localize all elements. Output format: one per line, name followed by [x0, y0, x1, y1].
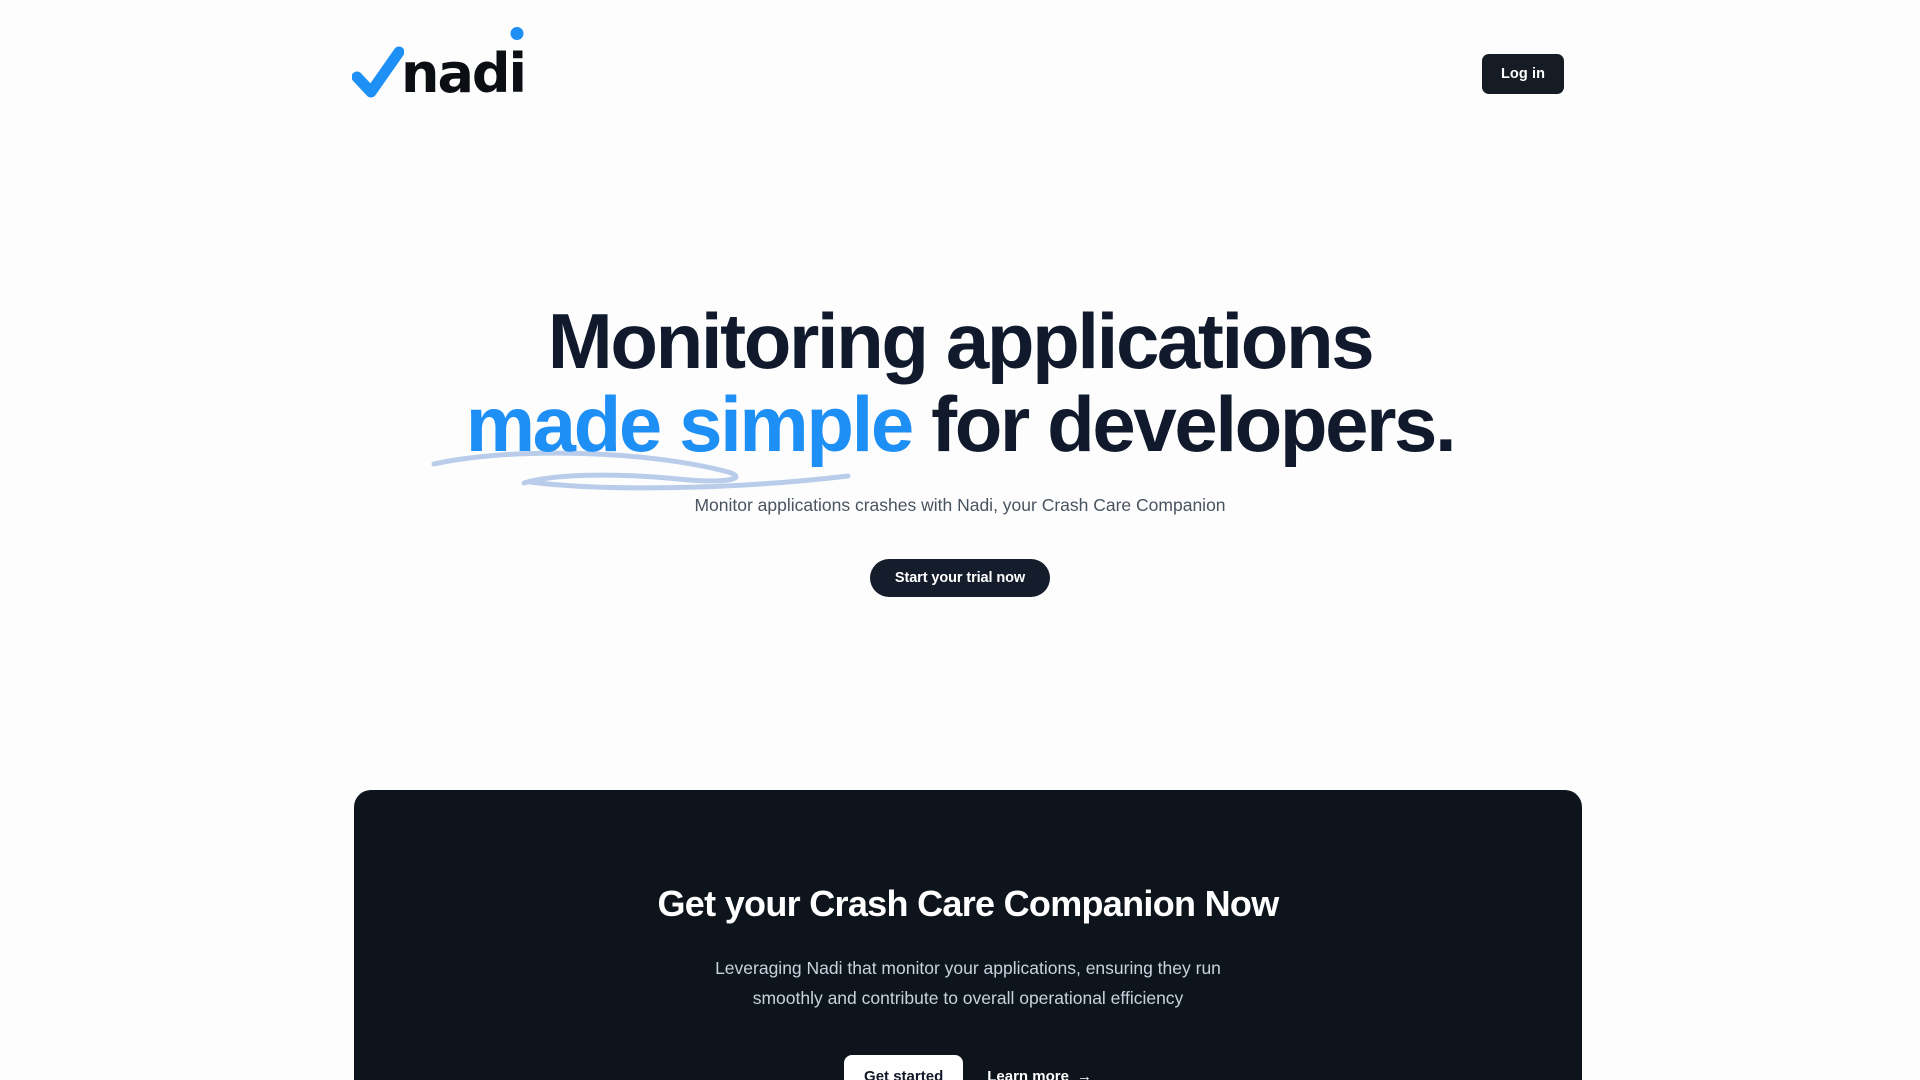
- promo-body: Leveraging Nadi that monitor your applic…: [354, 953, 1582, 1013]
- get-started-button[interactable]: Get started: [844, 1055, 963, 1080]
- hero-title-line-2-rest: for developers.: [912, 380, 1454, 468]
- hero-title-accent-wrap: made simple: [466, 383, 912, 466]
- hero-title-accent: made simple: [466, 380, 912, 468]
- learn-more-label: Learn more: [987, 1068, 1069, 1080]
- learn-more-link[interactable]: Learn more →: [987, 1068, 1092, 1080]
- brand-wordmark-i: i: [509, 47, 526, 101]
- promo-title: Get your Crash Care Companion Now: [354, 882, 1582, 925]
- brand-wordmark-i-stem: i: [509, 42, 526, 105]
- hero-section: Monitoring applications made simple for …: [0, 300, 1920, 597]
- login-button[interactable]: Log in: [1482, 54, 1564, 94]
- promo-card: Get your Crash Care Companion Now Levera…: [354, 790, 1582, 1080]
- brand-wordmark-lead: nad: [401, 47, 509, 101]
- hero-subtitle: Monitor applications crashes with Nadi, …: [0, 492, 1920, 518]
- site-header: nadi Log in: [0, 0, 1920, 148]
- arrow-right-icon: →: [1077, 1069, 1092, 1080]
- promo-actions: Get started Learn more →: [354, 1055, 1582, 1080]
- brand-wordmark: nadi: [401, 47, 525, 101]
- brand-logo[interactable]: nadi: [352, 43, 525, 105]
- hero-title: Monitoring applications made simple for …: [0, 300, 1920, 465]
- hero-title-line-2: made simple for developers.: [0, 383, 1920, 466]
- promo-body-line-1: Leveraging Nadi that monitor your applic…: [354, 953, 1582, 983]
- hero-title-line-1: Monitoring applications: [0, 300, 1920, 383]
- promo-body-line-2: smoothly and contribute to overall opera…: [354, 983, 1582, 1013]
- brand-i-dot-icon: [510, 27, 523, 40]
- start-trial-button[interactable]: Start your trial now: [870, 559, 1050, 597]
- blue-check-icon: [352, 46, 404, 102]
